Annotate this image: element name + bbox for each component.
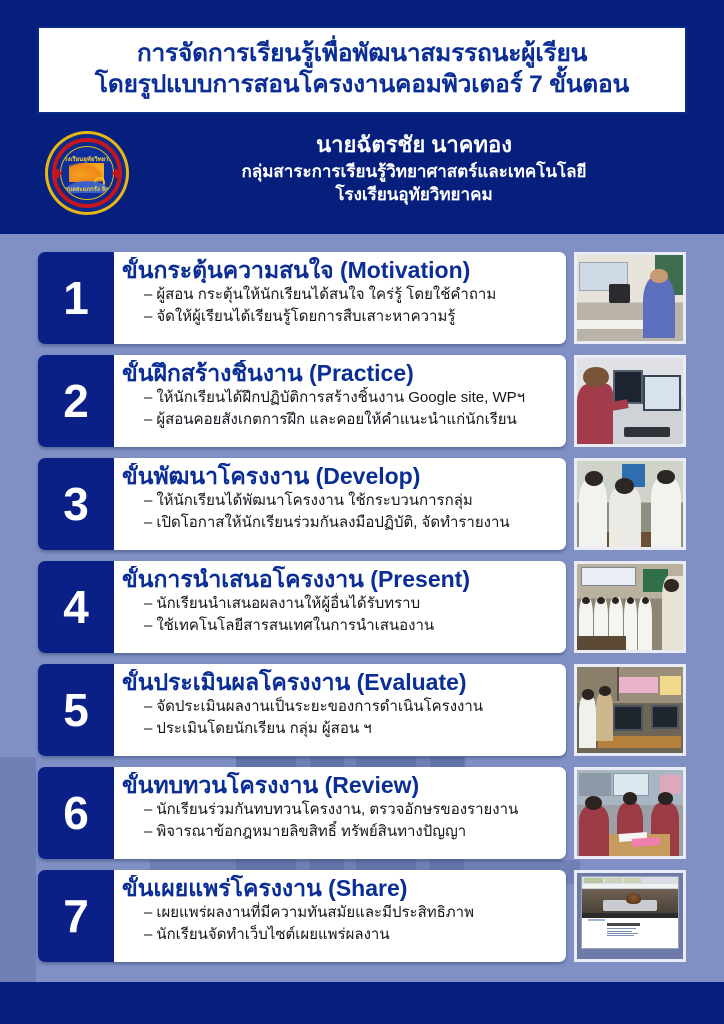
- step-card-7[interactable]: 7 ขั้นเผยแพร่โครงงาน (Share) –เผยแพร่ผลง…: [38, 870, 566, 962]
- photo-content-link: [607, 928, 636, 929]
- photo-person-head: [582, 597, 589, 604]
- photo-browser-tab: [584, 878, 603, 883]
- photo-person-head: [657, 470, 675, 485]
- bullet-text: จัดประเมินผลงานเป็นระยะของการดำเนินโครงง…: [156, 698, 483, 715]
- steps-list: 1 ขั้นกระตุ้นความสนใจ (Motivation) –ผู้ส…: [0, 252, 724, 973]
- step-bullets-1: –ผู้สอน กระตุ้นให้นักเรียนได้สนใจ ใคร่รู…: [122, 284, 560, 327]
- step-card-3[interactable]: 3 ขั้นพัฒนาโครงงาน (Develop) –ให้นักเรีย…: [38, 458, 566, 550]
- step-card-5[interactable]: 5 ขั้นประเมินผลโครงงาน (Evaluate) –จัดปร…: [38, 664, 566, 756]
- page-title-line-2: โดยรูปแบบการสอนโครงงานคอมพิวเตอร์ 7 ขั้น…: [95, 71, 629, 100]
- photo-student-uniform: [579, 806, 609, 856]
- photo-shelf: [579, 773, 611, 795]
- bullet-text: ผู้สอน กระตุ้นให้นักเรียนได้สนใจ ใคร่รู้…: [156, 286, 496, 303]
- photo-window: [581, 567, 636, 586]
- step-card-1[interactable]: 1 ขั้นกระตุ้นความสนใจ (Motivation) –ผู้ส…: [38, 252, 566, 344]
- website-screenshot-photo: [574, 870, 686, 962]
- bullet-text: ประเมินโดยนักเรียน กลุ่ม ผู้สอน ฯ: [156, 720, 371, 737]
- step-bullet: –เปิดโอกาสให้นักเรียนร่วมกันลงมือปฏิบัติ…: [144, 512, 560, 533]
- step-number-5: 5: [38, 664, 114, 756]
- photo-keyboard: [624, 427, 671, 437]
- step-body-7: ขั้นเผยแพร่โครงงาน (Share) –เผยแพร่ผลงาน…: [114, 870, 566, 962]
- author-row: โรงเรียนอุทัยวิทยาคม ตำบลสะแกกรัง จังหวั…: [37, 126, 687, 226]
- step-row: 6 ขั้นทบทวนโครงงาน (Review) –นักเรียนร่ว…: [0, 767, 724, 859]
- students-presenting-photo: [574, 561, 686, 653]
- step-bullets-7: –เผยแพร่ผลงานที่มีความทันสมัยและมีประสิท…: [122, 902, 560, 945]
- photo-student-uniform: [638, 597, 652, 650]
- step-card-6[interactable]: 6 ขั้นทบทวนโครงงาน (Review) –นักเรียนร่ว…: [38, 767, 566, 859]
- step-row: 1 ขั้นกระตุ้นความสนใจ (Motivation) –ผู้ส…: [0, 252, 724, 344]
- photo-breadcrumb: [588, 919, 605, 920]
- photo-site-content: [582, 918, 678, 948]
- photo-monitor: [613, 705, 643, 731]
- step-bullet: –ใช้เทคโนโลยีสารสนเทศในการนำเสนองาน: [144, 615, 560, 636]
- step-row: 2 ขั้นฝึกสร้างชิ้นงาน (Practice) –ให้นัก…: [0, 355, 724, 447]
- step-title-5: ขั้นประเมินผลโครงงาน (Evaluate): [122, 669, 560, 695]
- step-title-4: ขั้นการนำเสนอโครงงาน (Present): [122, 566, 560, 592]
- bullet-dash-icon: –: [144, 801, 152, 818]
- bullet-dash-icon: –: [144, 617, 152, 634]
- photo-student-uniform: [579, 480, 607, 547]
- photo-scene: [577, 461, 683, 547]
- students-reviewing-documents-photo: [574, 767, 686, 859]
- photo-person-head: [599, 686, 611, 696]
- step-body-2: ขั้นฝึกสร้างชิ้นงาน (Practice) –ให้นักเร…: [114, 355, 566, 447]
- step-bullet: –พิจารณาข้อกฎหมายลิขสิทธิ์ ทรัพย์สินทางป…: [144, 821, 560, 842]
- school-logo-icon: โรงเรียนอุทัยวิทยาคม ตำบลสะแกกรัง จังหวั…: [45, 131, 129, 215]
- step-bullet: –ผู้สอน กระตุ้นให้นักเรียนได้สนใจ ใคร่รู…: [144, 284, 560, 305]
- photo-person-body: [577, 384, 613, 444]
- step-card-2[interactable]: 2 ขั้นฝึกสร้างชิ้นงาน (Practice) –ให้นัก…: [38, 355, 566, 447]
- author-name: นายฉัตรชัย นาคทอง: [141, 130, 687, 160]
- bullet-dash-icon: –: [144, 411, 152, 428]
- bullet-dash-icon: –: [144, 904, 152, 921]
- photo-teacher-figure: [596, 693, 613, 741]
- photo-content-heading: [607, 923, 639, 926]
- bullet-dash-icon: –: [144, 286, 152, 303]
- photo-wall-poster: [660, 676, 681, 695]
- bullet-dash-icon: –: [144, 389, 152, 406]
- step-body-1: ขั้นกระตุ้นความสนใจ (Motivation) –ผู้สอน…: [114, 252, 566, 344]
- photo-browser-window: [581, 876, 679, 948]
- step-title-3: ขั้นพัฒนาโครงงาน (Develop): [122, 463, 560, 489]
- photo-scene: [577, 667, 683, 753]
- step-number-1: 1: [38, 252, 114, 344]
- step-body-3: ขั้นพัฒนาโครงงาน (Develop) –ให้นักเรียนไ…: [114, 458, 566, 550]
- photo-scene: [577, 358, 683, 444]
- bullet-dash-icon: –: [144, 823, 152, 840]
- logo-cross-right-icon: [112, 169, 121, 178]
- step-row: 3 ขั้นพัฒนาโครงงาน (Develop) –ให้นักเรีย…: [0, 458, 724, 550]
- photo-person-head: [627, 597, 634, 604]
- step-title-7: ขั้นเผยแพร่โครงงาน (Share): [122, 875, 560, 901]
- photo-content-link: [607, 931, 632, 932]
- logo-arc-bottom-text: ตำบลสะแกกรัง จังหวัดอุทัยธานี: [61, 184, 113, 194]
- step-body-4: ขั้นการนำเสนอโครงงาน (Present) –นักเรียน…: [114, 561, 566, 653]
- photo-monitor: [643, 375, 681, 411]
- photo-student-uniform: [609, 487, 641, 547]
- photo-person-head: [612, 597, 619, 604]
- step-title-1: ขั้นกระตุ้นความสนใจ (Motivation): [122, 257, 560, 283]
- bullet-dash-icon: –: [144, 926, 152, 943]
- bullet-text: จัดให้ผู้เรียนได้เรียนรู้โดยการสืบเสาะหา…: [156, 308, 455, 325]
- bullet-text: ให้นักเรียนได้พัฒนาโครงงาน ใช้กระบวนการก…: [156, 492, 472, 509]
- bullet-text: นักเรียนนำเสนอผลงานให้ผู้อื่นได้รับทราบ: [156, 595, 420, 612]
- poster-header: การจัดการเรียนรู้เพื่อพัฒนาสมรรถนะผู้เรี…: [0, 0, 724, 234]
- photo-monitor: [613, 370, 643, 404]
- bullet-dash-icon: –: [144, 698, 152, 715]
- bullet-text: เผยแพร่ผลงานที่มีความทันสมัยและมีประสิทธ…: [156, 904, 474, 921]
- photo-person-head: [585, 796, 602, 810]
- photo-student-uniform: [651, 478, 681, 547]
- author-department: กลุ่มสาระการเรียนรู้วิทยาศาสตร์และเทคโนโ…: [141, 160, 687, 184]
- step-title-6: ขั้นทบทวนโครงงาน (Review): [122, 772, 560, 798]
- photo-scene: [577, 255, 683, 341]
- author-school: โรงเรียนอุทัยวิทยาคม: [141, 183, 687, 207]
- bullet-text: ให้นักเรียนได้ฝึกปฏิบัติการสร้างชิ้นงาน …: [156, 389, 525, 406]
- bullet-dash-icon: –: [144, 492, 152, 509]
- step-bullets-3: –ให้นักเรียนได้พัฒนาโครงงาน ใช้กระบวนการ…: [122, 490, 560, 533]
- bullet-dash-icon: –: [144, 595, 152, 612]
- bullet-dash-icon: –: [144, 514, 152, 531]
- title-box: การจัดการเรียนรู้เพื่อพัฒนาสมรรถนะผู้เรี…: [37, 26, 687, 114]
- step-bullet: –เผยแพร่ผลงานที่มีความทันสมัยและมีประสิท…: [144, 902, 560, 923]
- photo-person-head: [615, 478, 634, 493]
- poster-footer-strip: [0, 982, 724, 1024]
- step-row: 4 ขั้นการนำเสนอโครงงาน (Present) –นักเรี…: [0, 561, 724, 653]
- photo-person-head: [583, 367, 608, 388]
- computer-lab-photo: [574, 664, 686, 756]
- photo-browser-tab: [605, 878, 622, 883]
- bullet-text: นักเรียนร่วมกันทบทวนโครงงาน, ตรวจอักษรขอ…: [156, 801, 518, 818]
- student-at-computer-photo: [574, 355, 686, 447]
- logo-cross-left-icon: [53, 169, 62, 178]
- bullet-text: นักเรียนจัดทำเว็บไซต์เผยแพร่ผลงาน: [156, 926, 389, 943]
- step-number-2: 2: [38, 355, 114, 447]
- bullet-text: เปิดโอกาสให้นักเรียนร่วมกันลงมือปฏิบัติ,…: [156, 514, 509, 531]
- photo-hero-banner: [582, 889, 678, 913]
- step-row: 5 ขั้นประเมินผลโครงงาน (Evaluate) –จัดปร…: [0, 664, 724, 756]
- photo-pine-cone: [626, 893, 641, 904]
- page-title-line-1: การจัดการเรียนรู้เพื่อพัฒนาสมรรถนะผู้เรี…: [137, 40, 587, 69]
- step-bullet: –นักเรียนร่วมกันทบทวนโครงงาน, ตรวจอักษรข…: [144, 799, 560, 820]
- photo-desk: [577, 636, 626, 650]
- photo-wall-poster: [619, 677, 657, 692]
- bullet-dash-icon: –: [144, 720, 152, 737]
- author-text-block: นายฉัตรชัย นาคทอง กลุ่มสาระการเรียนรู้วิ…: [141, 130, 687, 207]
- photo-browser-tab: [624, 878, 641, 883]
- photo-person-head: [642, 597, 649, 604]
- photo-scene: [577, 564, 683, 650]
- bullet-text: พิจารณาข้อกฎหมายลิขสิทธิ์ ทรัพย์สินทางปั…: [156, 823, 466, 840]
- students-group-work-photo: [574, 458, 686, 550]
- step-bullets-4: –นักเรียนนำเสนอผลงานให้ผู้อื่นได้รับทราบ…: [122, 593, 560, 636]
- step-number-7: 7: [38, 870, 114, 962]
- bullet-text: ผู้สอนคอยสังเกตการฝึก และคอยให้คำแนะนำแก…: [156, 411, 516, 428]
- photo-person-head: [582, 689, 594, 699]
- infographic-poster: การจัดการเรียนรู้เพื่อพัฒนาสมรรถนะผู้เรี…: [0, 0, 724, 1024]
- step-bullet: –ผู้สอนคอยสังเกตการฝึก และคอยให้คำแนะนำแ…: [144, 409, 560, 430]
- step-body-6: ขั้นทบทวนโครงงาน (Review) –นักเรียนร่วมก…: [114, 767, 566, 859]
- step-number-3: 3: [38, 458, 114, 550]
- step-row: 7 ขั้นเผยแพร่โครงงาน (Share) –เผยแพร่ผลง…: [0, 870, 724, 962]
- step-body-5: ขั้นประเมินผลโครงงาน (Evaluate) –จัดประเ…: [114, 664, 566, 756]
- step-bullets-2: –ให้นักเรียนได้ฝึกปฏิบัติการสร้างชิ้นงาน…: [122, 387, 560, 430]
- teacher-with-microphone-photo: [574, 252, 686, 344]
- step-bullet: –ให้นักเรียนได้พัฒนาโครงงาน ใช้กระบวนการ…: [144, 490, 560, 511]
- photo-scene: [577, 770, 683, 856]
- photo-content-link: [607, 933, 638, 934]
- photo-monitor: [609, 284, 630, 303]
- step-bullet: –จัดให้ผู้เรียนได้เรียนรู้โดยการสืบเสาะห…: [144, 306, 560, 327]
- photo-content-link: [607, 935, 634, 936]
- step-number-6: 6: [38, 767, 114, 859]
- bullet-text: ใช้เทคโนโลยีสารสนเทศในการนำเสนองาน: [156, 617, 434, 634]
- photo-wall-poster: [660, 775, 681, 794]
- step-title-2: ขั้นฝึกสร้างชิ้นงาน (Practice): [122, 360, 560, 386]
- photo-person-body: [643, 276, 675, 338]
- step-number-4: 4: [38, 561, 114, 653]
- step-bullet: –นักเรียนนำเสนอผลงานให้ผู้อื่นได้รับทราบ: [144, 593, 560, 614]
- photo-desk: [577, 320, 653, 329]
- photo-monitor: [651, 705, 679, 729]
- step-bullet: –ให้นักเรียนได้ฝึกปฏิบัติการสร้างชิ้นงาน…: [144, 387, 560, 408]
- step-bullet: –ประเมินโดยนักเรียน กลุ่ม ผู้สอน ฯ: [144, 718, 560, 739]
- step-bullets-6: –นักเรียนร่วมกันทบทวนโครงงาน, ตรวจอักษรข…: [122, 799, 560, 842]
- photo-scene: [577, 873, 683, 959]
- logo-inner-disc: โรงเรียนอุทัยวิทยาคม ตำบลสะแกกรัง จังหวั…: [60, 146, 114, 200]
- step-bullets-5: –จัดประเมินผลงานเป็นระยะของการดำเนินโครง…: [122, 696, 560, 739]
- step-bullet: –จัดประเมินผลงานเป็นระยะของการดำเนินโครง…: [144, 696, 560, 717]
- photo-student-uniform: [579, 696, 596, 748]
- bullet-dash-icon: –: [144, 308, 152, 325]
- step-bullet: –นักเรียนจัดทำเว็บไซต์เผยแพร่ผลงาน: [144, 924, 560, 945]
- photo-person-head: [597, 597, 604, 604]
- step-card-4[interactable]: 4 ขั้นการนำเสนอโครงงาน (Present) –นักเรี…: [38, 561, 566, 653]
